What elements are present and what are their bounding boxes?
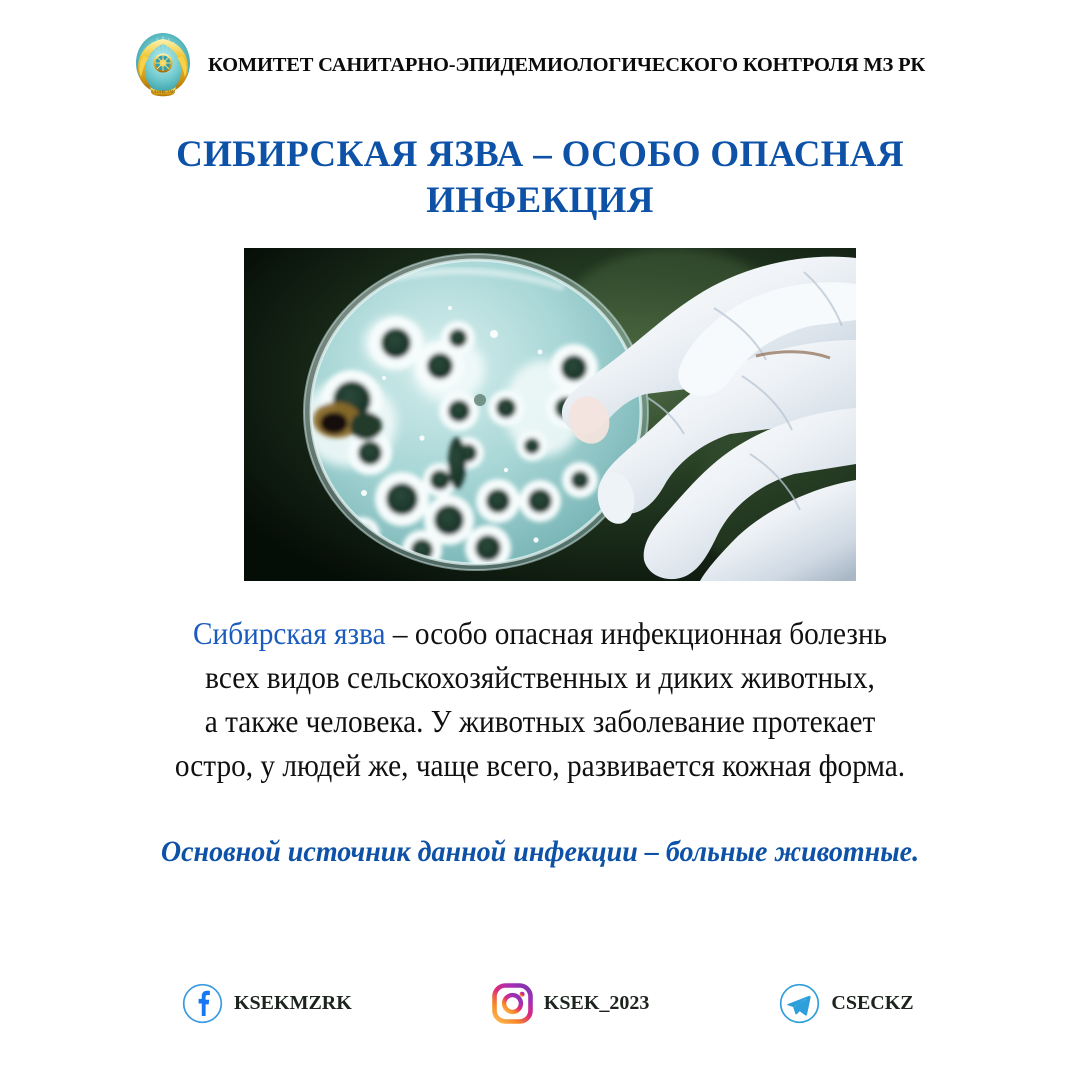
social-link-telegram[interactable]: CSECKZ — [779, 983, 913, 1024]
disease-name-highlight: Сибирская язва — [193, 616, 386, 651]
description-line-2: всех видов сельскохозяйственных и диких … — [84, 656, 995, 700]
organization-title: КОМИТЕТ САНИТАРНО-ЭПИДЕМИОЛОГИЧЕСКОГО КО… — [208, 54, 925, 77]
page-title: СИБИРСКАЯ ЯЗВА – ОСОБО ОПАСНАЯ ИНФЕКЦИЯ — [140, 132, 940, 225]
facebook-icon[interactable] — [182, 983, 223, 1024]
instagram-icon[interactable] — [492, 983, 533, 1024]
kazakhstan-state-emblem-icon: ҚАЗАҚСТАН — [132, 30, 194, 100]
telegram-icon[interactable] — [779, 983, 820, 1024]
description-line-1: Сибирская язва – особо опасная инфекцион… — [84, 612, 995, 656]
svg-text:ҚАЗАҚСТАН: ҚАЗАҚСТАН — [151, 89, 175, 94]
page-title-line-2: ИНФЕКЦИЯ — [140, 178, 940, 224]
petri-dish-photo — [244, 248, 856, 581]
header-bar: ҚАЗАҚСТАН КОМИТЕТ САНИТАРНО-ЭПИДЕМИОЛОГИ… — [132, 30, 925, 100]
page-title-line-1: СИБИРСКАЯ ЯЗВА – ОСОБО ОПАСНАЯ — [140, 132, 940, 178]
telegram-handle: CSECKZ — [831, 992, 913, 1015]
description-line-1-rest: – особо опасная инфекционная болезнь — [386, 616, 888, 651]
social-link-facebook[interactable]: KSEKMZRK — [182, 983, 352, 1024]
facebook-handle: KSEKMZRK — [234, 992, 352, 1015]
description-paragraph: Сибирская язва – особо опасная инфекцион… — [84, 612, 995, 788]
description-line-3: а также человека. У животных заболевание… — [84, 700, 995, 744]
social-link-instagram[interactable]: KSEK_2023 — [492, 983, 650, 1024]
description-line-4: остро, у людей же, чаще всего, развивает… — [84, 744, 995, 788]
social-footer: KSEKMZRK KSEK_2023 — [182, 983, 898, 1024]
tagline-text: Основной источник данной инфекции – боль… — [75, 836, 1006, 869]
instagram-handle: KSEK_2023 — [544, 992, 650, 1015]
